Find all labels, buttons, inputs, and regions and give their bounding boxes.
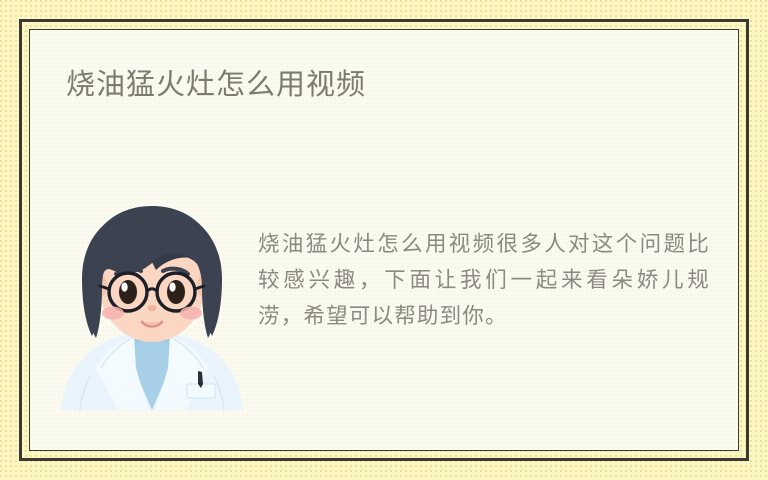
avatar [56, 200, 248, 410]
article-content-row: 烧油猛火灶怎么用视频很多人对这个问题比较感兴趣，下面让我们一起来看朵娇儿规涝，希… [30, 190, 739, 451]
page-title: 烧油猛火灶怎么用视频 [66, 68, 366, 103]
article-card: 烧油猛火灶怎么用视频 [29, 29, 739, 451]
page-canvas: 烧油猛火灶怎么用视频 [0, 0, 768, 480]
article-body-text: 烧油猛火灶怎么用视频很多人对这个问题比较感兴趣，下面让我们一起来看朵娇儿规涝，希… [258, 226, 710, 334]
